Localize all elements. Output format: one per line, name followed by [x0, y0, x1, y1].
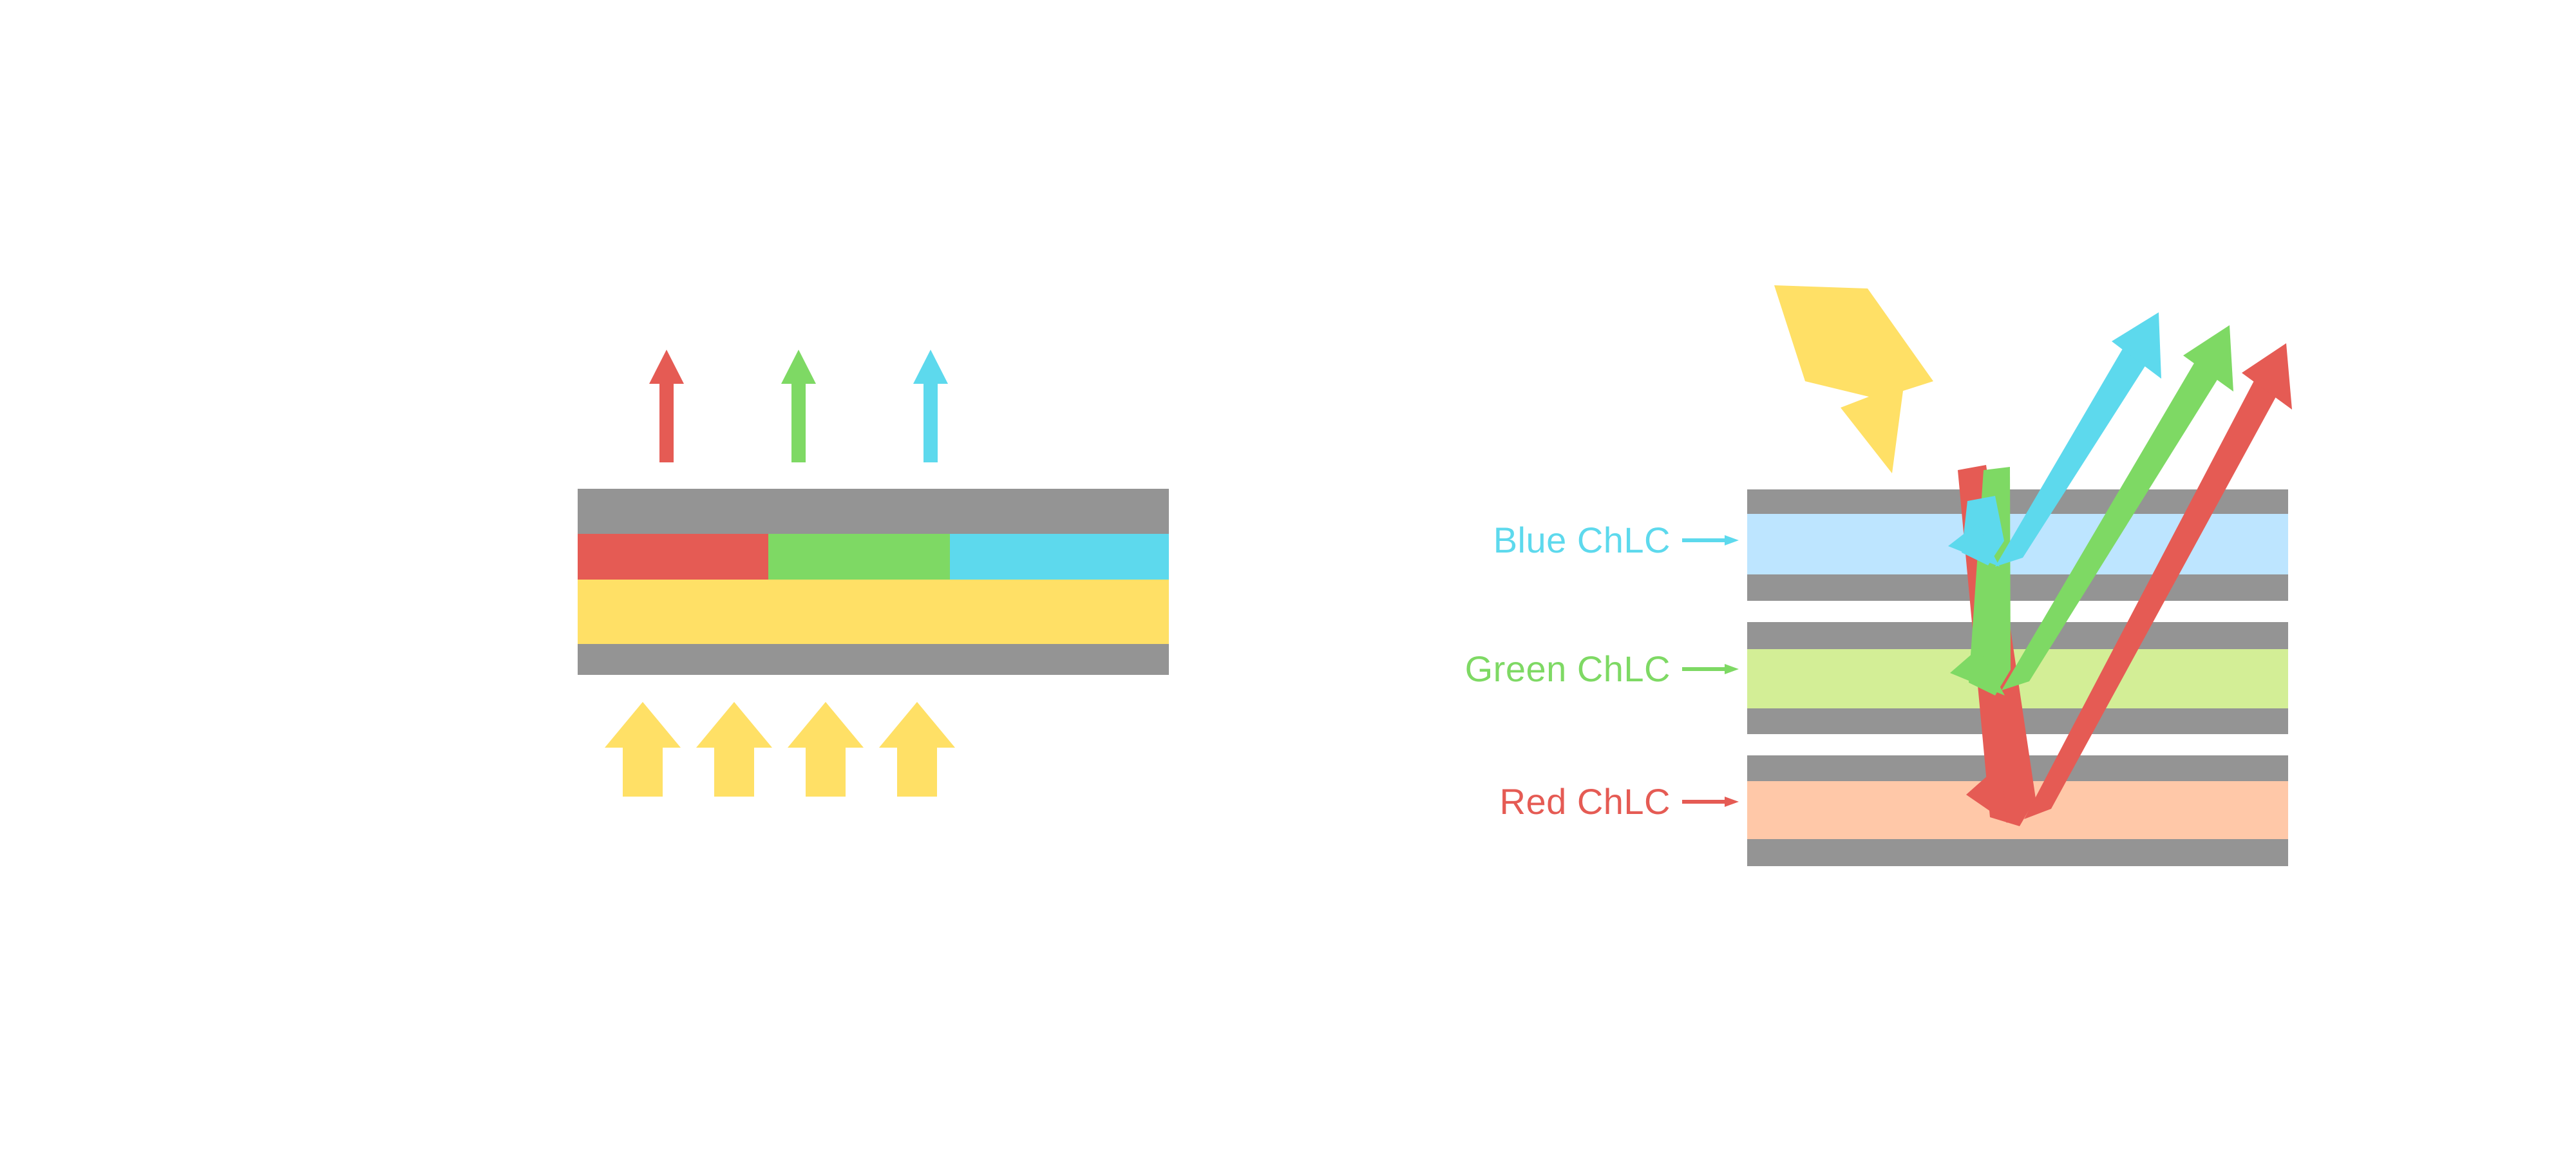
backlight-arrow-4 — [879, 702, 955, 797]
red-pixel — [578, 534, 768, 580]
emission-panel — [0, 0, 1224, 1154]
red-chlc-pointer-icon — [1682, 792, 1739, 811]
diagram-canvas: Blue ChLC Green ChLC Red ChLC — [0, 0, 2576, 1154]
backlight-arrow-2 — [696, 702, 772, 797]
green-emission-arrow — [781, 350, 816, 462]
pixel-row — [578, 534, 1169, 580]
green-pixel — [768, 534, 950, 580]
electrode-bottom — [1747, 574, 2288, 601]
blue-pixel — [950, 534, 1169, 580]
red-emission-arrow — [649, 350, 684, 462]
blue-emission-arrow — [913, 350, 948, 462]
backlight-arrow-1 — [605, 702, 681, 797]
blue-chlc-pointer-icon — [1682, 531, 1739, 550]
bottom-electrode — [578, 644, 1169, 675]
top-electrode — [578, 489, 1169, 534]
red-chlc-label-text: Red ChLC — [1500, 780, 1671, 822]
green-chlc-label-text: Green ChLC — [1465, 648, 1671, 690]
incident-white-light-arrow — [1774, 285, 1933, 473]
green-chlc-label: Green ChLC — [1217, 648, 1739, 690]
green-chlc-pointer-icon — [1682, 659, 1739, 679]
backlight-arrow-3 — [788, 702, 864, 797]
reflection-panel: Blue ChLC Green ChLC Red ChLC — [1320, 0, 2415, 1154]
electrode-top — [1747, 622, 2288, 649]
emission-stack — [578, 489, 1169, 675]
red-chlc-label: Red ChLC — [1217, 780, 1739, 822]
blue-chlc-label-text: Blue ChLC — [1493, 519, 1671, 561]
blue-chlc-label: Blue ChLC — [1217, 519, 1739, 561]
electrode-bottom — [1747, 839, 2288, 866]
backlight-layer — [578, 580, 1169, 644]
